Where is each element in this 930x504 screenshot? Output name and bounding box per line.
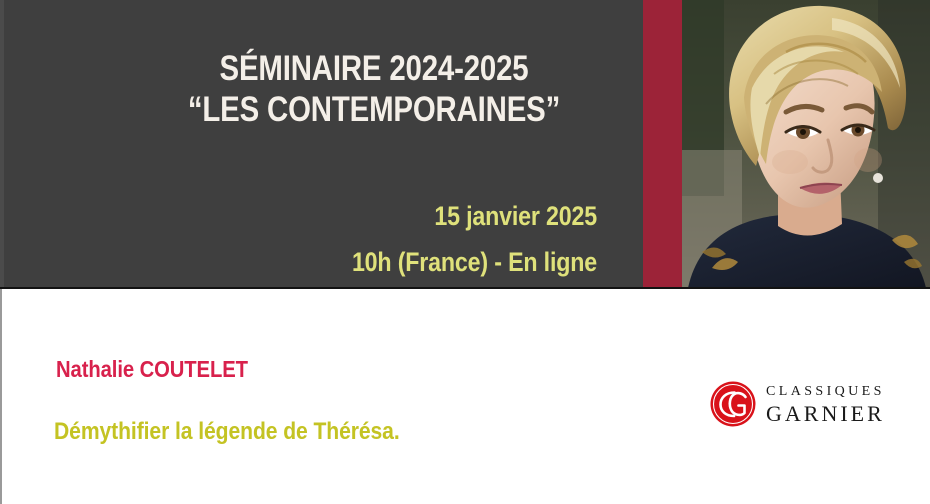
header-band: SÉMINAIRE 2024-2025 “LES CONTEMPORAINES”… [0,0,930,288]
talk-title: Démythifier la légende de Thérésa. [54,418,400,446]
session-date: 15 janvier 2025 [221,193,597,239]
crimson-accent-stripe [643,0,682,288]
headline-line-1: SÉMINAIRE 2024-2025 [161,48,588,89]
portrait-illustration [682,0,930,288]
headline-line-2: “LES CONTEMPORAINES” [161,89,588,130]
wordmark-line-garnier: GARNIER [766,401,885,426]
seminar-announcement-poster: SÉMINAIRE 2024-2025 “LES CONTEMPORAINES”… [0,0,930,504]
publisher-logo: CLASSIQUES GARNIER [710,379,900,431]
session-time-and-mode: 10h (France) - En ligne [221,239,597,285]
content-left-edge-line [0,289,2,504]
seminar-headline: SÉMINAIRE 2024-2025 “LES CONTEMPORAINES” [161,48,588,130]
speaker-name: Nathalie COUTELET [56,356,248,383]
wordmark-line-classiques: CLASSIQUES [766,383,885,401]
classiques-garnier-monogram-icon [710,381,756,427]
speaker-portrait-photo [682,0,930,288]
session-meta: 15 janvier 2025 10h (France) - En ligne [221,193,597,285]
publisher-wordmark: CLASSIQUES GARNIER [766,383,885,426]
header-left-edge-accent [0,0,4,288]
